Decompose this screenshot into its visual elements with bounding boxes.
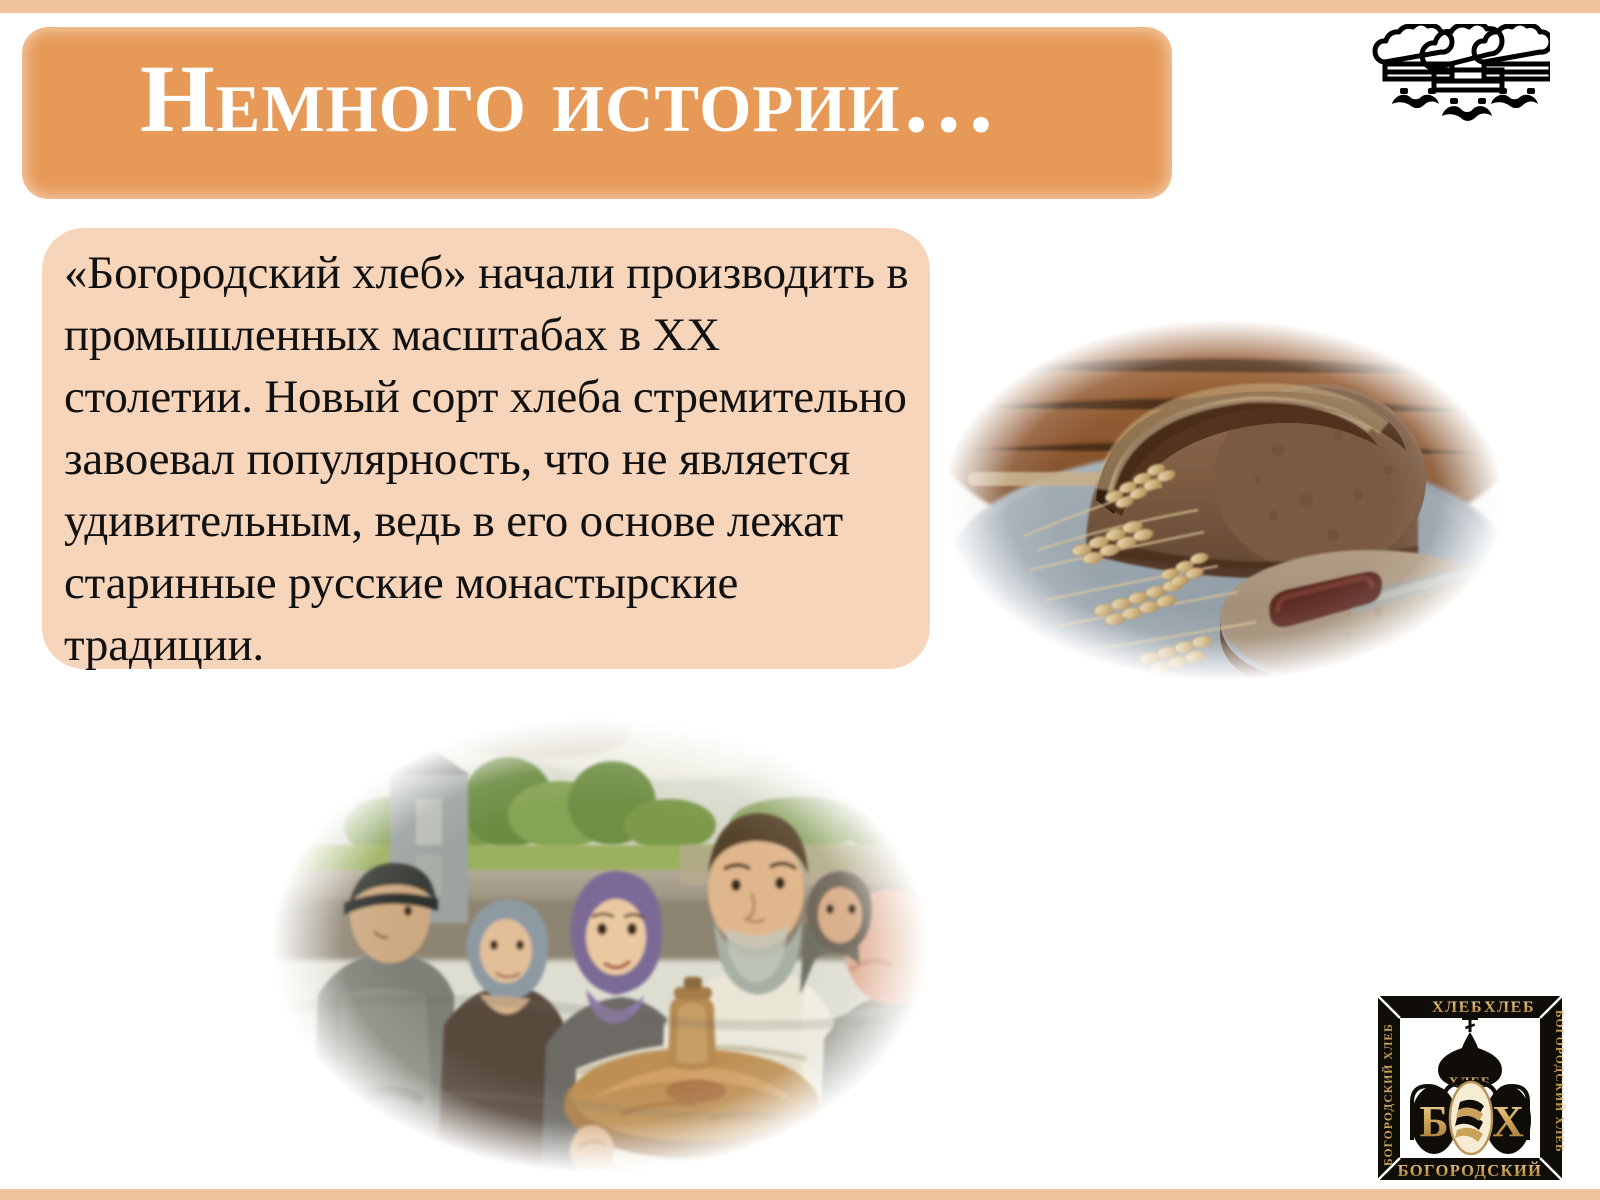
svg-text:Б: Б — [1419, 1097, 1448, 1146]
svg-text:ХЛЕБ: ХЛЕБ — [1484, 999, 1535, 1016]
rye-bread-photo — [918, 300, 1528, 700]
body-paragraph: «Богородский хлеб» начали производить в … — [64, 242, 909, 676]
top-accent-strip — [0, 0, 1600, 13]
bogorodsky-hleb-logo: ХЛЕБ ХЛЕБ БОГОРОДСКИЙ БОГОРОДСКИЙ ХЛЕБ Б… — [1372, 990, 1568, 1186]
svg-text:ХЛЕБ: ХЛЕБ — [1432, 999, 1483, 1016]
three-chef-hats-icon — [1372, 24, 1550, 129]
svg-text:БОГОРОДСКИЙ ХЛЕБ: БОГОРОДСКИЙ ХЛЕБ — [1381, 1023, 1395, 1166]
body-text-card: «Богородский хлеб» начали производить в … — [42, 228, 930, 669]
svg-text:БОГОРОДСКИЙ: БОГОРОДСКИЙ — [1398, 1161, 1543, 1180]
svg-text:Х: Х — [1492, 1097, 1524, 1146]
svg-text:БОГОРОДСКИЙ ХЛЕБ: БОГОРОДСКИЙ ХЛЕБ — [1553, 1010, 1567, 1153]
bread-and-salt-painting — [240, 695, 960, 1195]
slide-canvas: Немного истории… «Богородский хлеб» нача… — [0, 0, 1600, 1200]
page-title: Немного истории… — [140, 47, 1120, 151]
